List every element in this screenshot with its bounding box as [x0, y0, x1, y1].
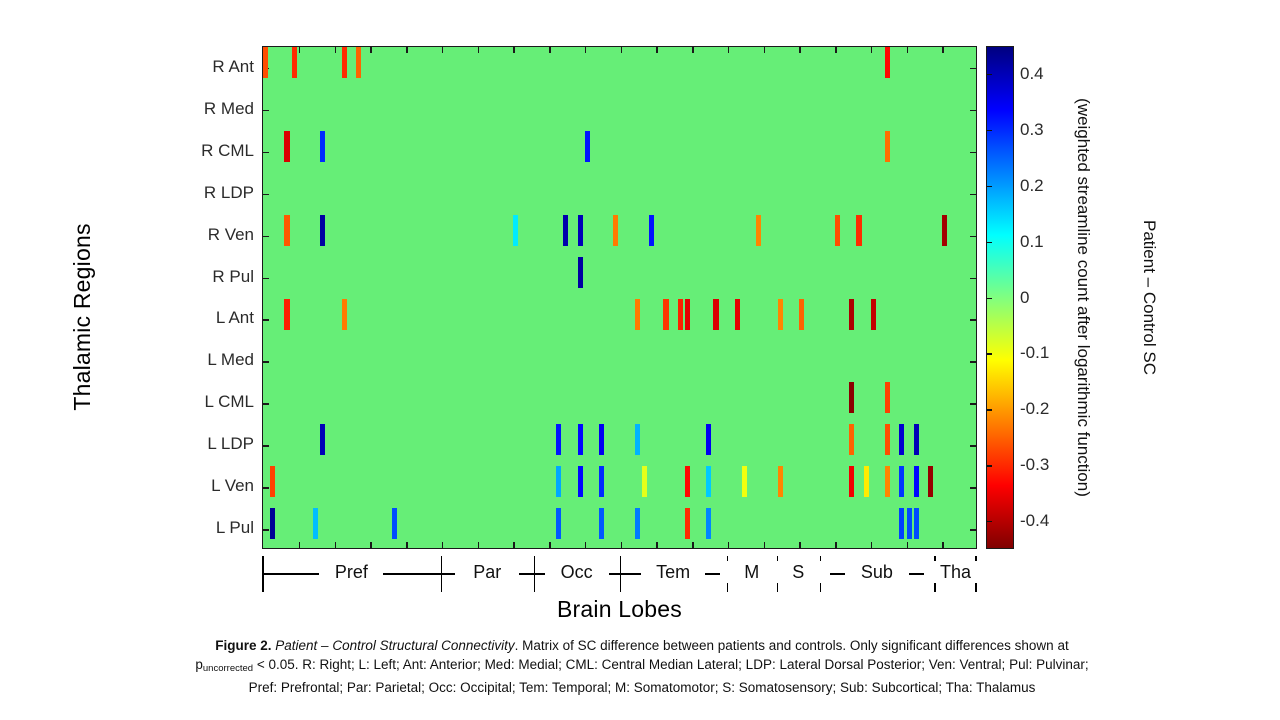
axis-tick	[370, 47, 372, 53]
heatmap-cell	[685, 466, 690, 497]
heatmap-cell	[849, 424, 854, 455]
axis-tick	[970, 278, 976, 280]
axis-tick	[907, 542, 909, 548]
heatmap-cell	[835, 215, 840, 246]
heatmap-cell	[914, 508, 919, 539]
axis-tick	[970, 110, 976, 112]
axis-tick	[907, 47, 909, 53]
heatmap-cell	[864, 466, 869, 497]
heatmap-cell	[907, 508, 912, 539]
axis-tick	[406, 542, 408, 548]
colorbar-tick-label: -0.2	[1020, 401, 1049, 417]
axis-tick	[263, 487, 269, 489]
axis-tick	[970, 319, 976, 321]
axis-tick	[585, 542, 587, 548]
heatmap-cell	[585, 131, 590, 162]
heatmap-cell	[899, 424, 904, 455]
axis-tick	[970, 403, 976, 405]
heatmap-cell	[342, 47, 347, 78]
heatmap-cell	[599, 466, 604, 497]
heatmap-cell	[578, 215, 583, 246]
y-axis-tick-labels: R AntR MedR CMLR LDPR VenR PulL AntL Med…	[150, 46, 254, 549]
y-axis-tick-label-r-ldp: R LDP	[204, 184, 254, 202]
heatmap-cell	[556, 466, 561, 497]
axis-tick	[871, 47, 873, 53]
axis-tick	[585, 47, 587, 53]
lobe-group-label-tem: Tem	[641, 561, 705, 583]
heatmap-cell	[706, 508, 711, 539]
heatmap-cell	[599, 424, 604, 455]
axis-tick	[970, 194, 976, 196]
colorbar-tick-label: -0.3	[1020, 457, 1049, 473]
colorbar-tick-label: -0.1	[1020, 345, 1049, 361]
caption-line-1: Figure 2. Patient – Control Structural C…	[215, 638, 1068, 653]
heatmap-cell	[578, 257, 583, 288]
axis-tick	[871, 542, 873, 548]
caption-p-subscript: uncorrected	[203, 663, 253, 674]
y-axis-tick-label-l-med: L Med	[207, 351, 254, 369]
axis-tick	[970, 152, 976, 154]
heatmap-cell	[270, 466, 275, 497]
axis-tick	[513, 47, 515, 53]
heatmap-cell	[320, 215, 325, 246]
caption-p-symbol: p	[195, 657, 203, 672]
heatmap-cell	[263, 47, 268, 78]
axis-tick	[621, 47, 623, 53]
heatmap-cell	[685, 299, 690, 330]
axis-tick	[263, 110, 269, 112]
axis-tick	[835, 542, 837, 548]
heatmap-cell	[320, 424, 325, 455]
heatmap-cell	[899, 508, 904, 539]
axis-tick	[263, 319, 269, 321]
caption-rest-2: < 0.05. R: Right; L: Left; Ant: Anterior…	[253, 657, 1089, 672]
lobe-group-label-occ: Occ	[545, 561, 609, 583]
heatmap-cell	[706, 424, 711, 455]
y-axis-tick-label-r-ven: R Ven	[208, 226, 254, 244]
colorbar-tick-label: 0.4	[1020, 66, 1044, 82]
heatmap-cell	[613, 215, 618, 246]
figure-2-container: Thalamic Regions R AntR MedR CMLR LDPR V…	[0, 0, 1280, 720]
heatmap-cell	[599, 508, 604, 539]
heatmap-cell	[849, 299, 854, 330]
heatmap-cell	[778, 299, 783, 330]
y-axis-tick-label-r-pul: R Pul	[212, 268, 254, 286]
axis-tick	[335, 542, 337, 548]
colorbar-tick	[987, 353, 992, 354]
caption-line-2: puncorrected < 0.05. R: Right; L: Left; …	[195, 657, 1088, 672]
colorbar-tick-label: 0.1	[1020, 234, 1044, 250]
heatmap-cell	[513, 215, 518, 246]
heatmap-cell	[663, 299, 668, 330]
axis-tick	[942, 542, 944, 548]
colorbar-tick	[987, 409, 992, 410]
colorbar-tick-label: -0.4	[1020, 513, 1049, 529]
heatmap-cell	[713, 299, 718, 330]
axis-tick	[263, 194, 269, 196]
axis-tick	[549, 542, 551, 548]
heatmap-cell	[678, 299, 683, 330]
heatmap-cell	[635, 299, 640, 330]
axis-tick	[764, 47, 766, 53]
heatmap-cell	[849, 382, 854, 413]
x-axis-lobe-groups: PrefParOccTemMSSubTha	[262, 556, 977, 592]
y-axis-tick-label-r-ant: R Ant	[212, 58, 254, 76]
y-axis-tick-label-l-ven: L Ven	[211, 477, 254, 495]
colorbar-tick	[987, 298, 992, 299]
heatmap-cell	[685, 508, 690, 539]
axis-tick	[442, 542, 444, 548]
heatmap-cell	[556, 508, 561, 539]
axis-tick	[370, 542, 372, 548]
heatmap-cell	[928, 466, 933, 497]
axis-tick	[970, 445, 976, 447]
heatmap-cell	[642, 466, 647, 497]
axis-tick	[692, 47, 694, 53]
axis-tick	[728, 47, 730, 53]
heatmap-cell	[578, 424, 583, 455]
axis-tick	[406, 47, 408, 53]
caption-figure-italic-title: Patient – Control Structural Connectivit…	[272, 638, 515, 653]
caption-line-3: Pref: Prefrontal; Par: Parietal; Occ: Oc…	[249, 680, 1036, 695]
axis-tick	[263, 403, 269, 405]
heatmap-cell	[885, 424, 890, 455]
heatmap-cell	[635, 508, 640, 539]
lobe-group-label-pref: Pref	[319, 561, 383, 583]
colorbar-tick	[987, 74, 992, 75]
axis-tick	[263, 445, 269, 447]
y-axis-title: Thalamic Regions	[65, 167, 99, 467]
colorbar-title-primary: Patient – Control SC	[1138, 46, 1160, 549]
axis-tick	[799, 542, 801, 548]
axis-tick	[513, 542, 515, 548]
y-axis-tick-label-r-cml: R CML	[201, 142, 254, 160]
axis-tick	[263, 278, 269, 280]
lobe-group-label-s: S	[766, 561, 830, 583]
heatmap-cell	[899, 466, 904, 497]
heatmap-cell	[849, 466, 854, 497]
lobe-group-label-sub: Sub	[845, 561, 909, 583]
heatmap-cell	[799, 299, 804, 330]
lobe-group-label-tha: Tha	[924, 561, 988, 583]
colorbar-tick	[987, 130, 992, 131]
lobe-group-divider	[441, 556, 443, 592]
heatmap-cell	[885, 131, 890, 162]
heatmap-cell	[284, 131, 289, 162]
axis-tick	[478, 542, 480, 548]
y-axis-tick-label-l-pul: L Pul	[216, 519, 254, 537]
y-axis-tick-label-l-ant: L Ant	[216, 309, 254, 327]
axis-tick	[970, 487, 976, 489]
heatmap-cell	[270, 508, 275, 539]
axis-tick	[299, 47, 301, 53]
axis-tick	[656, 542, 658, 548]
heatmap-cell	[342, 299, 347, 330]
axis-tick	[621, 542, 623, 548]
lobe-group-label-par: Par	[455, 561, 519, 583]
heatmap-cell	[778, 466, 783, 497]
lobe-group-divider	[534, 556, 536, 592]
axis-tick	[335, 47, 337, 53]
heatmap-cell	[706, 466, 711, 497]
heatmap-cell	[392, 508, 397, 539]
colorbar-tick-label: 0.3	[1020, 122, 1044, 138]
axis-tick	[942, 47, 944, 53]
caption-figure-number: Figure 2.	[215, 638, 271, 653]
heatmap-cell	[871, 299, 876, 330]
axis-tick	[656, 47, 658, 53]
heatmap-cell	[885, 382, 890, 413]
heatmap-cell	[914, 466, 919, 497]
colorbar-tick	[987, 186, 992, 187]
colorbar-tick-label: 0.2	[1020, 178, 1044, 194]
axis-tick	[263, 152, 269, 154]
colorbar-tick-label: 0	[1020, 290, 1029, 306]
lobe-group-divider	[262, 556, 264, 592]
heatmap-cell	[556, 424, 561, 455]
heatmap-cell	[942, 215, 947, 246]
heatmap-cell	[284, 299, 289, 330]
figure-caption: Figure 2. Patient – Control Structural C…	[96, 636, 1188, 697]
heatmap-cell	[756, 215, 761, 246]
colorbar-tick	[987, 465, 992, 466]
axis-tick	[442, 47, 444, 53]
axis-tick	[799, 47, 801, 53]
heatmap-plot-area	[262, 46, 977, 549]
axis-tick	[728, 542, 730, 548]
axis-tick	[970, 68, 976, 70]
axis-tick	[299, 542, 301, 548]
axis-tick	[970, 529, 976, 531]
heatmap-cell	[885, 466, 890, 497]
heatmap-cell	[320, 131, 325, 162]
heatmap-cell	[856, 215, 861, 246]
heatmap-cell	[649, 215, 654, 246]
heatmap-cell	[356, 47, 361, 78]
colorbar-tick	[987, 521, 992, 522]
y-axis-tick-label-r-med: R Med	[204, 100, 254, 118]
axis-tick	[478, 47, 480, 53]
heatmap-cell	[284, 215, 289, 246]
axis-tick	[549, 47, 551, 53]
heatmap-cell	[914, 424, 919, 455]
axis-tick	[835, 47, 837, 53]
y-axis-tick-label-l-ldp: L LDP	[207, 435, 254, 453]
axis-tick	[764, 542, 766, 548]
colorbar-title-secondary: (weighted streamline count after logarit…	[1072, 46, 1094, 549]
axis-tick	[970, 236, 976, 238]
axis-tick	[263, 236, 269, 238]
heatmap-cell	[292, 47, 297, 78]
axis-tick	[970, 361, 976, 363]
y-axis-tick-label-l-cml: L CML	[205, 393, 254, 411]
axis-tick	[692, 542, 694, 548]
axis-tick	[263, 361, 269, 363]
colorbar-tick	[987, 242, 992, 243]
heatmap-cell	[735, 299, 740, 330]
lobe-group-divider	[620, 556, 622, 592]
caption-rest-1: . Matrix of SC difference between patien…	[515, 638, 1069, 653]
heatmap-cell	[885, 47, 890, 78]
heatmap-cell	[313, 508, 318, 539]
heatmap-cell	[563, 215, 568, 246]
x-axis-title: Brain Lobes	[262, 596, 977, 623]
axis-tick	[263, 529, 269, 531]
heatmap-cell	[635, 424, 640, 455]
heatmap-cell	[578, 466, 583, 497]
heatmap-cell	[742, 466, 747, 497]
